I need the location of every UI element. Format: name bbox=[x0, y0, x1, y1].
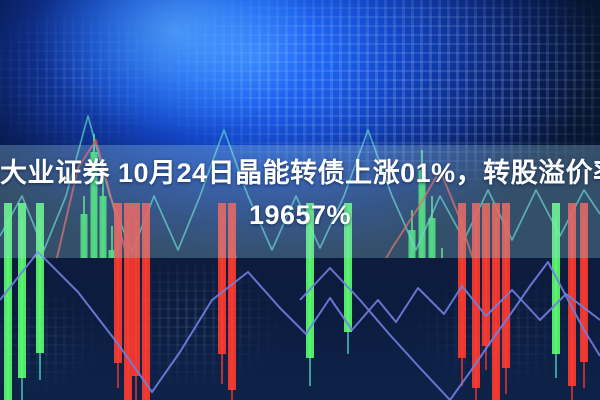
headline-text: 大业证券 10月24日晶能转债上涨01%，转股溢价率 19657% bbox=[0, 152, 600, 236]
headline-line-1: 大业证券 10月24日晶能转债上涨01%，转股溢价率 bbox=[0, 158, 600, 188]
headline-line-2: 19657% bbox=[0, 194, 600, 236]
banner-image: 大业证券 10月24日晶能转债上涨01%，转股溢价率 19657% bbox=[0, 0, 600, 400]
